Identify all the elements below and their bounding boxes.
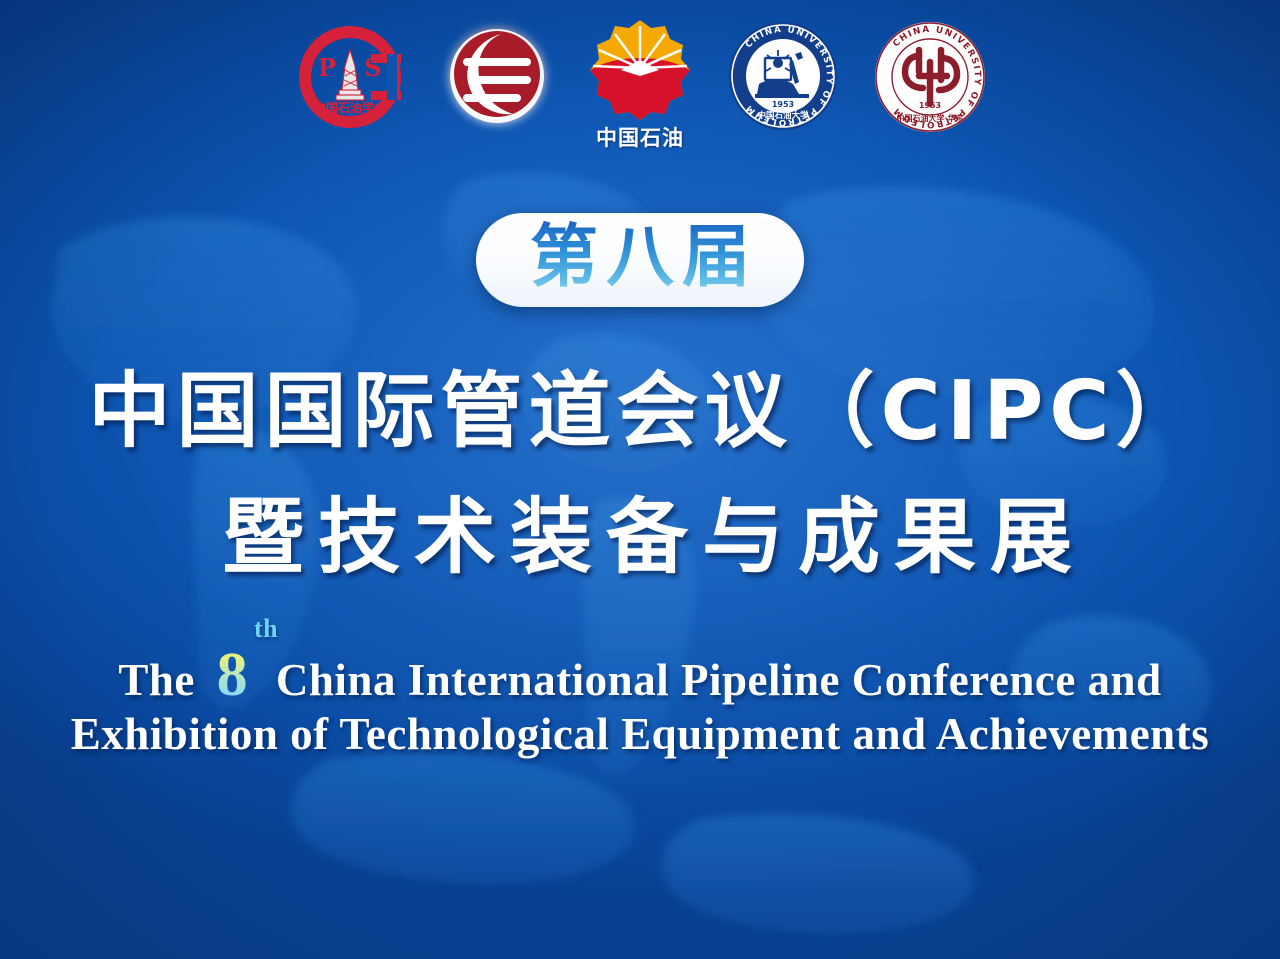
- svg-text:S: S: [364, 53, 381, 82]
- logo-pipechina-globe: [435, 14, 559, 138]
- subtitle-line-1-rest: China International Pipeline Conference …: [276, 655, 1162, 705]
- cnpc-caption: 中国石油: [596, 122, 684, 152]
- logo-cup-east-china: CHINA UNIVERSITY OF PETROLEUM 1953 中国石油大…: [867, 14, 993, 140]
- edition-badge-row: 第八届: [0, 213, 1280, 307]
- cup-beijing-seal-icon: CHINA UNIVERSITY OF PETROLEUM: [729, 22, 837, 130]
- cup-east-china-seal-icon: CHINA UNIVERSITY OF PETROLEUM 1953 中国石油大…: [875, 22, 985, 132]
- ordinal-suffix: th: [254, 614, 278, 644]
- svg-text:P: P: [318, 53, 336, 82]
- svg-text:1953: 1953: [919, 101, 941, 110]
- svg-text:中国石油学会: 中国石油学会: [314, 100, 387, 115]
- subtitle-line-1: The 8 th China International Pipeline Co…: [0, 640, 1280, 711]
- logo-chinese-petroleum-society: P S 中国石油学会: [287, 14, 413, 140]
- edition-badge: 第八届: [476, 213, 804, 307]
- svg-text:中国石油大学: 中国石油大学: [757, 110, 809, 121]
- headline-line-1: 中国国际管道会议（CIPC）: [0, 344, 1280, 463]
- edition-badge-label: 第八届: [522, 220, 758, 296]
- cnpc-sunburst-icon: [590, 20, 690, 120]
- ordinal-number: 8: [217, 641, 249, 709]
- conference-banner: P S 中国石油学会: [0, 0, 1280, 959]
- svg-text:1953: 1953: [772, 100, 794, 109]
- sponsor-logo-strip: P S 中国石油学会: [0, 14, 1280, 152]
- headline-line-2: 暨技术装备与成果展: [0, 470, 1280, 589]
- ordinal-group: 8 th: [217, 640, 249, 711]
- logo-cnpc-petrochina: 中国石油: [581, 14, 699, 152]
- subtitle-the: The: [118, 655, 195, 705]
- logo-cup-beijing: CHINA UNIVERSITY OF PETROLEUM: [721, 14, 845, 138]
- svg-text:中国石油大学·华东: 中国石油大学·华东: [896, 113, 963, 123]
- cps-emblem-icon: P S 中国石油学会: [299, 26, 401, 128]
- subtitle-line-2: Exhibition of Technological Equipment an…: [0, 708, 1280, 760]
- pipeline-globe-icon: [450, 29, 544, 123]
